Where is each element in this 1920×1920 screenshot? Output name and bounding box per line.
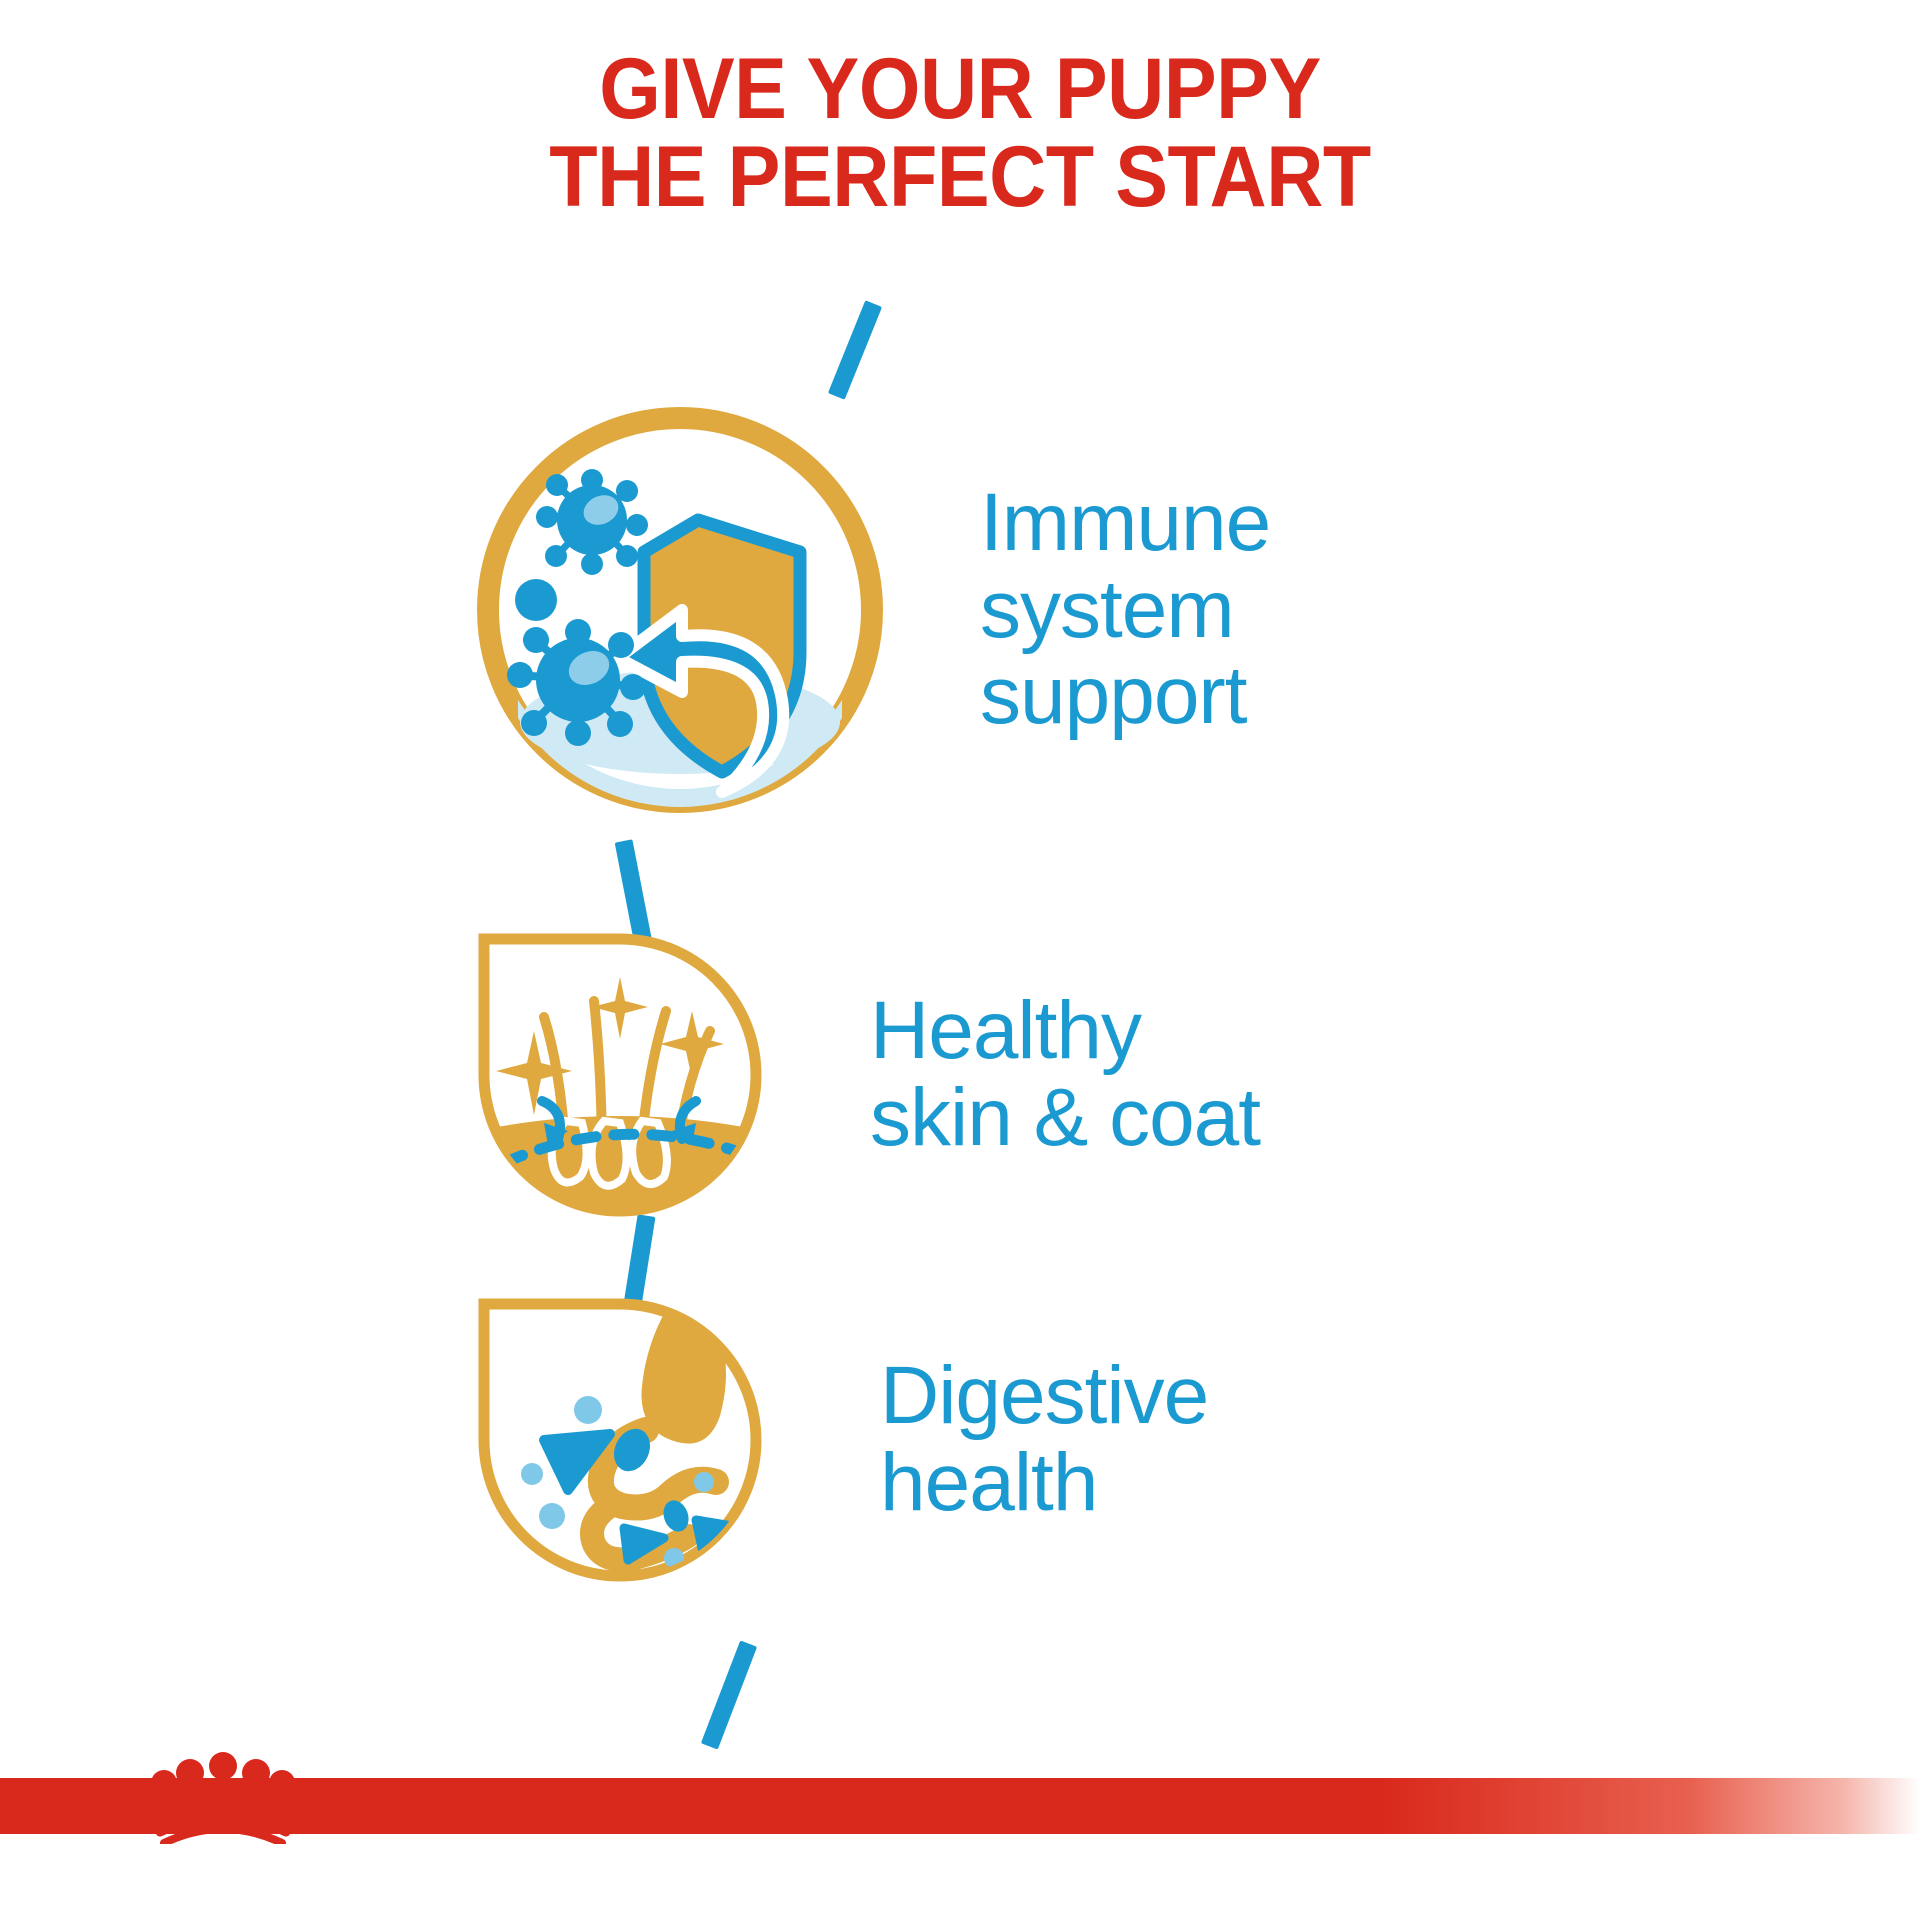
connector-bottom	[701, 1640, 757, 1749]
immune-shield-virus-icon	[470, 400, 890, 820]
benefit-row-immune: Immune system support	[470, 400, 1270, 820]
headline-line-2: THE PERFECT START	[77, 134, 1843, 222]
skin-coat-hair-follicle-icon	[470, 925, 770, 1225]
royal-canin-crown-logo	[148, 1752, 298, 1844]
digestive-stomach-intestine-icon	[470, 1290, 770, 1590]
headline-line-1: GIVE YOUR PUPPY	[77, 46, 1843, 134]
connector-top	[828, 300, 882, 399]
benefit-row-skin: Healthy skin & coat	[470, 925, 1260, 1225]
benefit-label-skin: Healthy skin & coat	[870, 988, 1260, 1162]
page-title: GIVE YOUR PUPPY THE PERFECT START	[77, 46, 1843, 221]
benefit-row-digest: Digestive health	[470, 1290, 1208, 1590]
poster-canvas: GIVE YOUR PUPPY THE PERFECT START	[0, 0, 1920, 1920]
benefit-label-digest: Digestive health	[880, 1353, 1208, 1527]
benefit-label-immune: Immune system support	[980, 480, 1270, 741]
